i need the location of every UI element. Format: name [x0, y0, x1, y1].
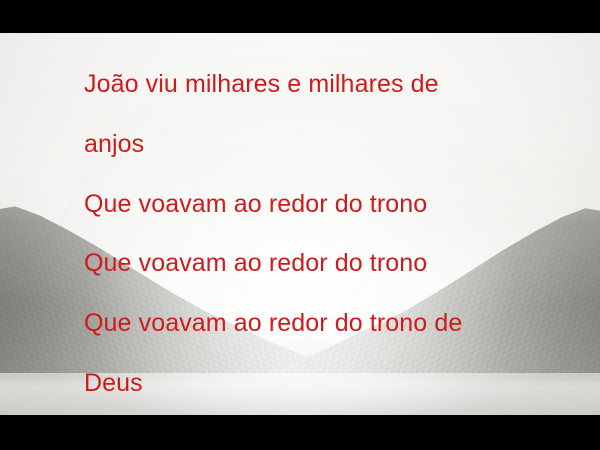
letterbox-bar-top: [0, 0, 600, 33]
paper-grain-texture: [0, 33, 600, 415]
slide-stage: João viu milhares e milhares de anjos Qu…: [0, 33, 600, 415]
lyric-video-frame: João viu milhares e milhares de anjos Qu…: [0, 0, 600, 450]
letterbox-bar-bottom: [0, 415, 600, 450]
